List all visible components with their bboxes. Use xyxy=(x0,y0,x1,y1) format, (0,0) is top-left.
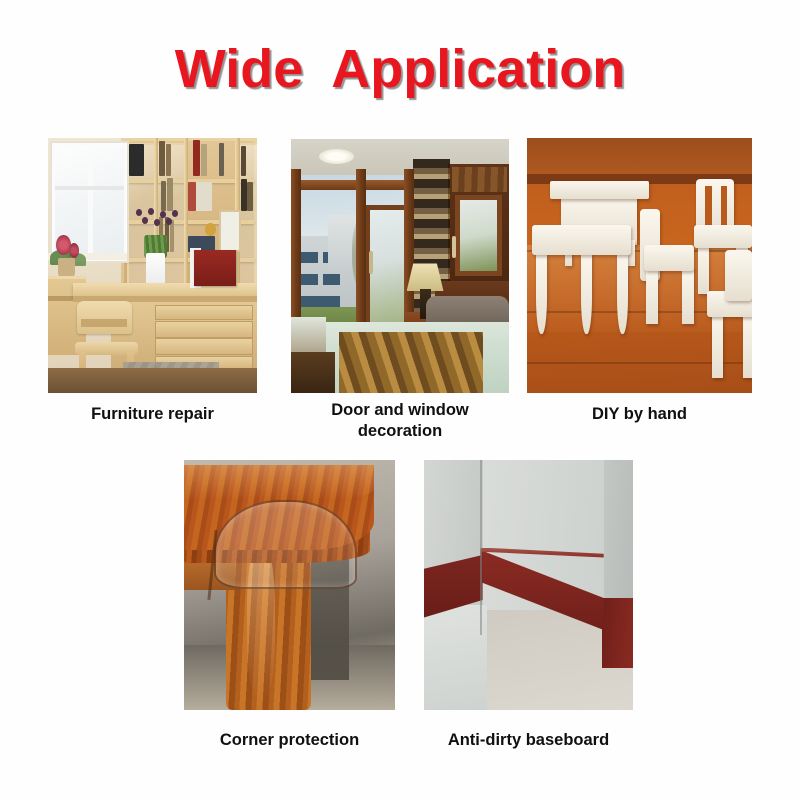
book xyxy=(129,144,144,176)
mini-chair-leg xyxy=(712,311,723,377)
caption-furniture-repair: Furniture repair xyxy=(48,404,257,425)
drawer[interactable] xyxy=(155,338,254,355)
scene-study-room xyxy=(48,138,257,393)
book xyxy=(241,146,246,176)
caption-diy-by-hand: DIY by hand xyxy=(527,404,752,425)
mini-chair-backrest xyxy=(725,250,752,301)
book xyxy=(201,144,206,176)
picture-frame xyxy=(219,210,241,252)
image-panel-furniture-repair xyxy=(48,138,257,393)
bed-runner xyxy=(339,332,483,393)
mini-chair-back-cutout xyxy=(721,186,728,224)
image-panel-corner-protection xyxy=(184,460,395,710)
mini-chair-leg xyxy=(646,268,657,324)
book xyxy=(159,141,164,176)
mini-chair-leg xyxy=(698,245,709,293)
scene-mini-furniture xyxy=(527,138,752,393)
mini-chair-back-cutout xyxy=(705,186,712,224)
mini-chair-seat xyxy=(694,225,753,248)
window-handle[interactable] xyxy=(369,251,372,274)
building-window xyxy=(301,274,318,285)
window-frame-transom xyxy=(291,180,413,191)
building-window xyxy=(323,274,340,285)
book xyxy=(167,178,172,211)
book xyxy=(188,182,196,210)
caption-door-window-decoration: Door and window decoration xyxy=(280,400,520,441)
berry-garland xyxy=(136,207,178,233)
poster-root: Wide Application xyxy=(0,0,800,800)
mini-table-top xyxy=(532,225,631,256)
corner-protector-film xyxy=(214,500,357,589)
page-title: Wide Application xyxy=(0,38,800,100)
scene-bedroom xyxy=(291,139,509,393)
mini-table-leg xyxy=(617,253,628,335)
chair-slat xyxy=(81,319,127,327)
window-handle[interactable] xyxy=(452,236,455,259)
mini-table-leg xyxy=(581,253,592,335)
drawer[interactable] xyxy=(155,305,254,320)
carved-wood-panel xyxy=(452,167,507,192)
scene-table-corner xyxy=(184,460,395,710)
book xyxy=(166,144,171,176)
scene-baseboard xyxy=(424,460,633,710)
mini-chair-seat xyxy=(644,245,694,271)
window-right xyxy=(455,195,503,276)
mini-table-leg xyxy=(536,253,547,335)
window-mullion-vertical xyxy=(88,146,93,258)
image-panel-diy-by-hand xyxy=(527,138,752,393)
table-top-highlight xyxy=(184,465,374,500)
baseboard-far xyxy=(602,598,633,668)
image-panel-door-window-decoration xyxy=(291,139,509,393)
caption-anti-dirty-baseboard: Anti-dirty baseboard xyxy=(424,730,633,751)
wall-corner-line xyxy=(480,460,482,635)
bookcase-stile-2 xyxy=(184,138,189,296)
book xyxy=(193,140,200,176)
standing-books xyxy=(194,250,236,286)
bed-frame-dark xyxy=(291,352,335,393)
caption-corner-protection: Corner protection xyxy=(184,730,395,751)
floor-left xyxy=(424,605,487,710)
mini-chair-leg xyxy=(682,268,693,324)
white-vase xyxy=(146,253,165,286)
mini-chair-leg xyxy=(743,311,752,377)
book xyxy=(247,182,252,210)
book xyxy=(241,179,248,211)
window-mullion-horizontal xyxy=(55,186,124,190)
building-window xyxy=(301,252,318,263)
book xyxy=(219,143,224,176)
chair-backrest xyxy=(77,301,131,334)
drawer[interactable] xyxy=(155,321,254,338)
floor xyxy=(48,368,257,394)
image-panel-anti-dirty-baseboard xyxy=(424,460,633,710)
mini-desk-top xyxy=(550,181,649,199)
